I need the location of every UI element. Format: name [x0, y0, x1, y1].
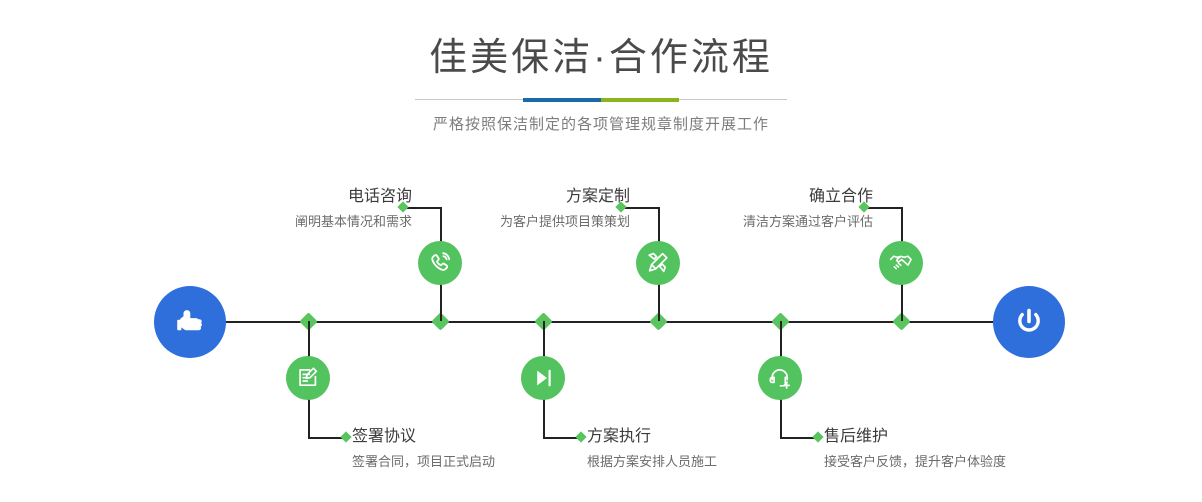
step-icon-agreement [286, 356, 330, 400]
step-title: 方案定制 [400, 188, 630, 206]
timeline-end-badge [993, 286, 1065, 358]
step-title: 售后维护 [824, 428, 1124, 446]
connector-horizontal [308, 437, 345, 439]
connector-horizontal [780, 437, 817, 439]
headset-add-icon [767, 365, 793, 391]
step-label-lower-1: 签署协议 签署合同，项目正式启动 [352, 428, 612, 469]
divider-blue-segment [523, 98, 601, 102]
step-label-upper-1: 电话咨询 阐明基本情况和需求 [180, 188, 412, 229]
title-divider [415, 98, 787, 102]
connector-horizontal [543, 437, 580, 439]
step-label-lower-3: 售后维护 接受客户反馈，提升客户体验度 [824, 428, 1124, 469]
play-skip-icon [530, 365, 556, 391]
step-icon-aftersales [758, 356, 802, 400]
step-label-upper-2: 方案定制 为客户提供项目策策划 [400, 188, 630, 229]
process-flow-page: 佳美保洁·合作流程 严格按照保洁制定的各项管理规章制度开展工作 [0, 0, 1202, 502]
step-desc: 清洁方案通过客户评估 [640, 215, 873, 229]
step-icon-plan [636, 241, 680, 285]
step-desc: 签署合同，项目正式启动 [352, 455, 612, 469]
phone-call-icon [427, 250, 453, 276]
step-desc: 为客户提供项目策策划 [400, 215, 630, 229]
document-pen-icon [295, 365, 321, 391]
step-title: 确立合作 [640, 188, 873, 206]
branch-marker-dot [340, 431, 351, 442]
page-title: 佳美保洁·合作流程 [0, 38, 1202, 80]
step-icon-phone [418, 241, 462, 285]
divider-green-segment [601, 98, 679, 102]
step-desc: 接受客户反馈，提升客户体验度 [824, 455, 1124, 469]
step-icon-cooperation [879, 241, 923, 285]
pointing-hand-icon [170, 302, 210, 342]
power-icon [1009, 302, 1049, 342]
handshake-icon [888, 250, 914, 276]
step-desc: 阐明基本情况和需求 [180, 215, 412, 229]
pencil-ruler-icon [645, 250, 671, 276]
step-label-lower-2: 方案执行 根据方案安排人员施工 [587, 428, 847, 469]
step-title: 电话咨询 [180, 188, 412, 206]
page-subtitle: 严格按照保洁制定的各项管理规章制度开展工作 [0, 113, 1202, 134]
timeline-start-badge [154, 286, 226, 358]
step-icon-execution [521, 356, 565, 400]
step-label-upper-3: 确立合作 清洁方案通过客户评估 [640, 188, 873, 229]
step-desc: 根据方案安排人员施工 [587, 455, 847, 469]
page-header: 佳美保洁·合作流程 严格按照保洁制定的各项管理规章制度开展工作 [0, 0, 1202, 134]
